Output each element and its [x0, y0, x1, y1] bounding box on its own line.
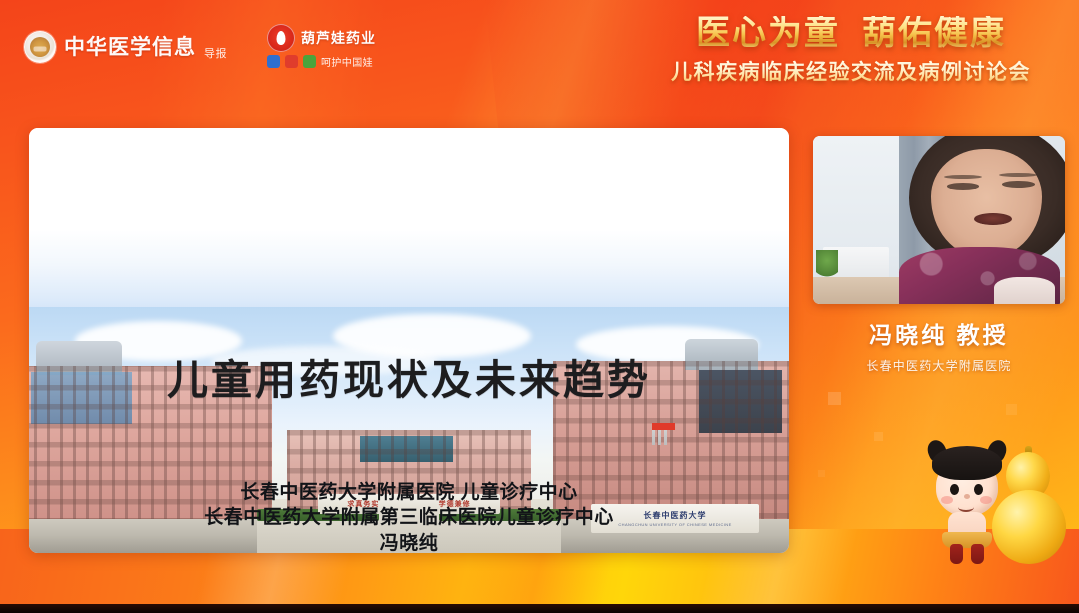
gourd-drop-icon: [267, 24, 295, 52]
speaker-organization: 长春中医药大学附属医院: [813, 357, 1065, 374]
photo-flags: [652, 423, 667, 445]
logo-huluwa-tagline: 呵护中国娃: [321, 54, 373, 69]
mascot-eye-left: [950, 484, 959, 495]
slide-credit-line-2: 长春中医药大学附属第三临床医院儿童诊疗中心: [29, 505, 789, 530]
slide-credit-line-3: 冯晓纯: [29, 531, 789, 553]
video-person-brow-left: [944, 175, 982, 179]
mascot-eye-right: [974, 484, 983, 495]
video-person-eye-left: [947, 183, 980, 190]
chip-green-icon: [303, 55, 316, 68]
mascot-boot-left: [950, 544, 963, 564]
mascot-boot-right: [971, 544, 984, 564]
logo-wordmark: 中华医学信息: [64, 36, 196, 57]
slide-upper-background: [29, 128, 789, 324]
mascot-mouth: [958, 502, 974, 512]
video-person-eye-right: [1002, 181, 1035, 188]
speaker-caption: 冯晓纯 教授 长春中医药大学附属医院: [813, 316, 1065, 374]
slide-credit-line-1: 长春中医药大学附属医院 儿童诊疗中心: [29, 480, 789, 505]
video-person-collar: [994, 277, 1054, 304]
logo-suffix: 导报: [204, 45, 227, 63]
logo-huluwa-top: 葫芦娃药业: [267, 24, 376, 52]
slide-credits: 长春中医药大学附属医院 儿童诊疗中心 长春中医药大学附属第三临床医院儿童诊疗中心…: [29, 480, 789, 553]
video-plant: [816, 250, 839, 280]
video-person-face: [931, 149, 1042, 257]
event-subtitle: 儿科疾病临床经验交流及病例讨论会: [641, 56, 1061, 86]
mascot-cheek-right: [980, 496, 992, 504]
webinar-stream-stage: 中华医学信息 导报 葫芦娃药业 呵护中国娃 医心为童葫佑健康 儿科疾病临床经验交…: [0, 0, 1079, 613]
speaker-name: 冯晓纯 教授: [813, 316, 1065, 350]
mascot-character: [926, 444, 1018, 572]
speaker-video-tile[interactable]: [813, 136, 1065, 304]
shared-slide[interactable]: 求真务实 学德兼修 长春中医药大学 CHANGCHUN UNIVERSITY O…: [29, 128, 789, 553]
logo-huluwa-pharma: 葫芦娃药业 呵护中国娃: [267, 24, 376, 69]
event-title-right: 葫佑健康: [862, 13, 1006, 53]
mascot-cheek-left: [941, 496, 953, 504]
logo-huluwa-bottom: 呵护中国娃: [267, 54, 376, 69]
bottom-footer-bar: [0, 604, 1079, 613]
video-person-mouth: [974, 213, 1012, 225]
emblem-icon: [24, 31, 56, 63]
chip-blue-icon: [267, 55, 280, 68]
event-banner: 医心为童葫佑健康 儿科疾病临床经验交流及病例讨论会: [641, 16, 1061, 86]
huluwa-mascot: [912, 438, 1072, 578]
mascot-nose: [964, 494, 970, 499]
slide-title: 儿童用药现状及未来趋势: [29, 346, 789, 406]
event-title-left: 医心为童: [696, 13, 840, 53]
header-logo-row: 中华医学信息 导报 葫芦娃药业 呵护中国娃: [24, 24, 376, 69]
video-person-brow-right: [999, 173, 1037, 177]
logo-china-medical-tribune: 中华医学信息 导报: [24, 31, 227, 63]
mascot-hair: [932, 446, 1002, 480]
logo-huluwa-wordmark: 葫芦娃药业: [301, 28, 376, 48]
event-title: 医心为童葫佑健康: [641, 16, 1061, 52]
chip-red-icon: [285, 55, 298, 68]
